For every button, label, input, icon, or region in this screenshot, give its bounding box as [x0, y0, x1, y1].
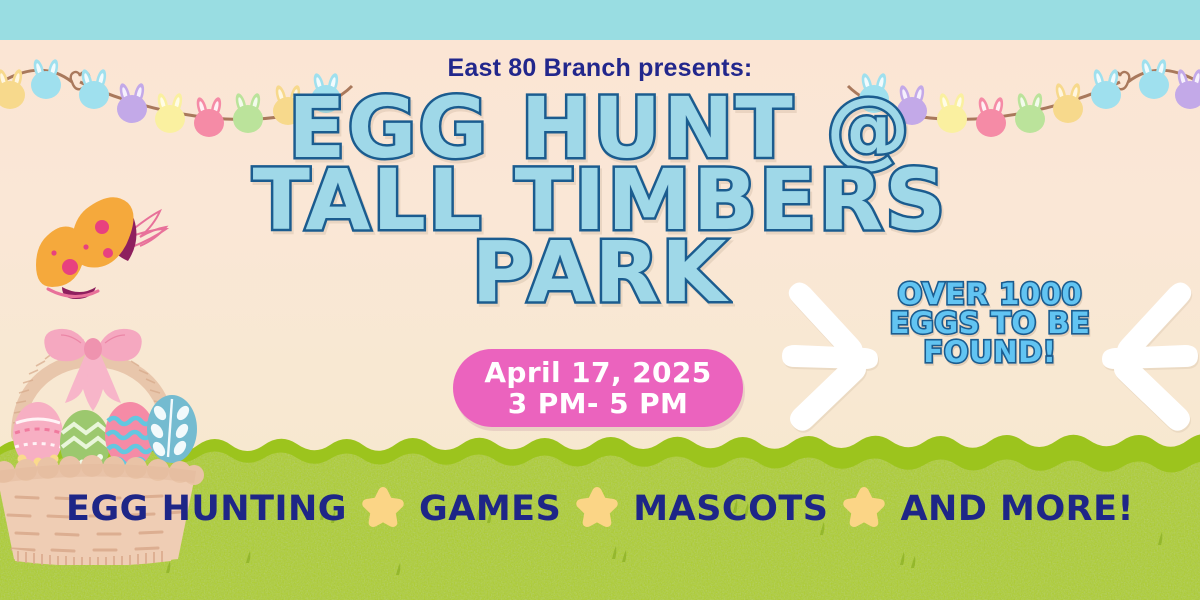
activity-item-and-more: AND MORE!: [900, 489, 1134, 529]
star-icon: [361, 484, 405, 533]
callout-line-3: FOUND!: [860, 338, 1120, 367]
star-icon: [575, 484, 619, 533]
star-icon: [842, 484, 886, 533]
easter-egg-hunt-banner: East 80 Branch presents: EGG HUNT @ TALL…: [0, 0, 1200, 600]
egg-count-callout: OVER 1000 EGGS TO BE FOUND!: [780, 272, 1200, 437]
egg-blue-leaf: [147, 395, 197, 463]
activity-item-egg-hunting: EGG HUNTING: [66, 489, 347, 529]
callout-line-2: EGGS TO BE: [860, 309, 1120, 338]
sky-strip: [0, 0, 1200, 40]
event-date-badge: April 17, 2025 3 PM- 5 PM: [453, 349, 743, 427]
activity-item-games: GAMES: [419, 489, 561, 529]
event-date: April 17, 2025: [484, 357, 711, 388]
callout-line-1: OVER 1000: [860, 280, 1120, 309]
egg-pink: [13, 402, 63, 468]
activity-item-mascots: MASCOTS: [633, 489, 828, 529]
activities-list: EGG HUNTING GAMES MASCOTS AND MORE!: [0, 484, 1200, 533]
event-time: 3 PM- 5 PM: [508, 388, 689, 419]
